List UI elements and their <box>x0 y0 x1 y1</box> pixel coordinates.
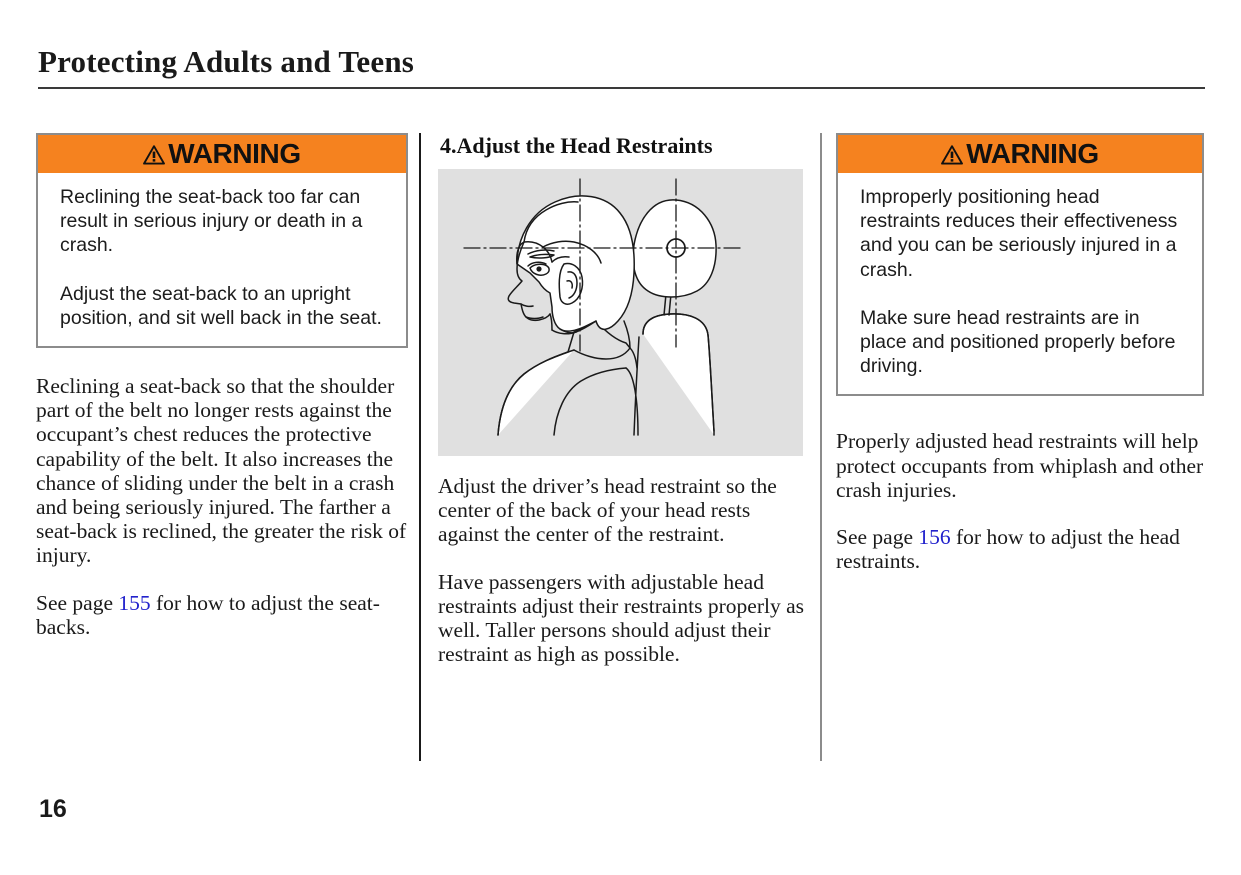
page-title: Protecting Adults and Teens <box>38 44 414 80</box>
warning-header: WARNING <box>38 135 406 173</box>
right-column: WARNING Improperly positioning head rest… <box>836 133 1204 573</box>
header-divider-rule <box>38 87 1205 89</box>
spacer <box>438 456 806 474</box>
warning-paragraph: Improperly positioning head restraints r… <box>860 185 1185 282</box>
middle-column: 4.Adjust the Head Restraints <box>438 133 806 666</box>
warning-paragraph: Make sure head restraints are in place a… <box>860 306 1185 379</box>
warning-triangle-icon <box>941 145 963 165</box>
body-paragraph: Have passengers with adjustable head res… <box>438 570 806 667</box>
page-number: 16 <box>39 795 67 824</box>
spacer <box>836 396 1204 429</box>
column-divider-right <box>820 133 822 761</box>
warning-paragraph: Reclining the seat-back too far can resu… <box>60 185 389 258</box>
warning-paragraph: Adjust the seat-back to an upright posit… <box>60 282 389 330</box>
section-heading: 4.Adjust the Head Restraints <box>440 133 806 159</box>
warning-body: Reclining the seat-back too far can resu… <box>38 173 406 346</box>
body-paragraph: Adjust the driver’s head restraint so th… <box>438 474 806 547</box>
warning-box-head-restraints: WARNING Improperly positioning head rest… <box>836 133 1204 396</box>
head-restraint-alignment-illustration <box>438 169 803 456</box>
warning-label: WARNING <box>966 140 1099 168</box>
warning-triangle-icon <box>143 145 165 165</box>
warning-header: WARNING <box>838 135 1202 173</box>
page-link-155[interactable]: 155 <box>118 591 150 615</box>
see-page-prefix: See page <box>836 525 918 549</box>
left-column: WARNING Reclining the seat-back too far … <box>36 133 408 639</box>
warning-body: Improperly positioning head restraints r… <box>838 173 1202 394</box>
see-page-reference: See page 156 for how to adjust the head … <box>836 525 1204 573</box>
body-paragraph: Properly adjusted head restraints will h… <box>836 429 1204 502</box>
spacer <box>36 348 408 374</box>
column-divider-left <box>419 133 421 761</box>
warning-box-seatback: WARNING Reclining the seat-back too far … <box>36 133 408 348</box>
body-paragraph: Reclining a seat-back so that the should… <box>36 374 408 568</box>
page-link-156[interactable]: 156 <box>918 525 950 549</box>
warning-label: WARNING <box>168 140 301 168</box>
see-page-reference: See page 155 for how to adjust the seat-… <box>36 591 408 639</box>
see-page-prefix: See page <box>36 591 118 615</box>
